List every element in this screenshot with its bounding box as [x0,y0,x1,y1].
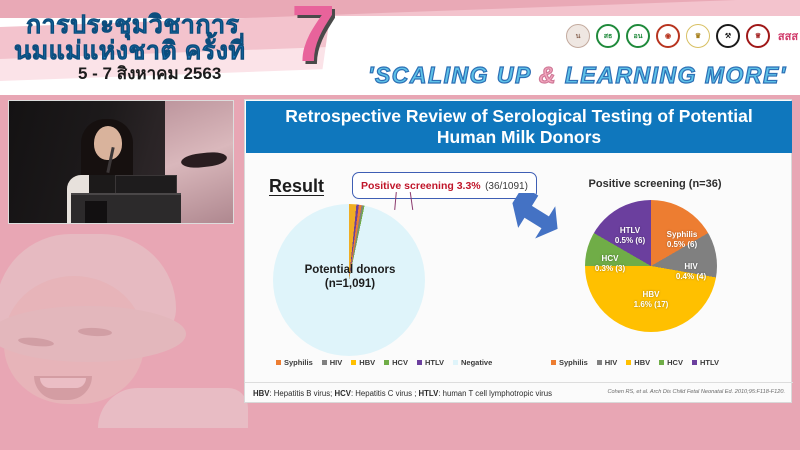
legend-item-hiv-2: HIV [597,358,618,367]
slice-value-htlv: 0.5% (6) [615,236,645,245]
pie-slice-label-hiv: HIV 0.4% (4) [669,262,713,282]
thai-breastfeeding-foundation-logo: น [566,24,590,48]
legend-item-htlv-2: HTLV [692,358,719,367]
footnote-hbv-text: : Hepatitis B virus; [269,389,334,398]
footnote-htlv-key: HTLV [419,389,439,398]
result-heading: Result [269,176,324,197]
legend-item-negative: Negative [453,358,492,367]
slice-value-hbv: 1.6% (17) [634,300,669,309]
legend-label-hiv: HIV [330,358,343,367]
slice-name-htlv: HTLV [620,226,640,235]
ministry-of-public-health-logo: สธ [596,24,620,48]
pie-slice-label-hbv: HBV 1.6% (17) [618,290,684,310]
pie-slice-label-syphilis: Syphilis 0.5% (6) [653,230,711,250]
slice-name-hiv: HIV [684,262,697,271]
slice-value-syphilis: 0.5% (6) [667,240,697,249]
mahidol-university-logo: ⚒ [716,24,740,48]
legend-label-syphilis-2: Syphilis [559,358,588,367]
presenter-face [94,126,122,160]
podium-panel [85,201,107,224]
conference-header-banner: การประชุมวิชาการ นมแม่แห่งชาติ ครั้งที่ … [0,0,800,95]
royal-college-logo: ◉ [656,24,680,48]
baby-body [98,388,248,428]
legend-label-hbv: HBV [359,358,375,367]
slide-footnote: HBV: Hepatitis B virus; HCV: Hepatitis C… [245,382,793,404]
department-of-health-logo: อน [626,24,650,48]
flow-arrow-icon [507,193,563,239]
slice-value-hcv: 0.3% (3) [595,264,625,273]
footnote-hcv-text: : Hepatitis C virus ; [351,389,419,398]
baby-teeth [40,378,86,388]
legend-item-hiv: HIV [322,358,343,367]
slide-title: Retrospective Review of Serological Test… [246,101,792,153]
potential-donors-legend: Syphilis HIV HBV HCV HTLV Negative [276,358,492,367]
legend-item-hcv-2: HCV [659,358,683,367]
legend-item-htlv: HTLV [417,358,444,367]
callout-fraction: (36/1091) [485,181,528,192]
footnote-htlv-text: : human T cell lymphotropic virus [438,389,552,398]
legend-item-hbv: HBV [351,358,375,367]
legend-label-hcv-2: HCV [667,358,683,367]
legend-label-hcv: HCV [392,358,408,367]
royal-thai-emblem-logo: ♛ [686,24,710,48]
sponsor-logo-strip: น สธ อน ◉ ♛ ⚒ ♕ สสส [566,24,800,48]
positive-screening-legend: Syphilis HIV HBV HCV HTLV [551,358,719,367]
tagline-part1: 'SCALING UP [368,62,539,88]
pediatric-society-logo: ♕ [746,24,770,48]
legend-item-syphilis-2: Syphilis [551,358,588,367]
abbreviation-key: HBV: Hepatitis B virus; HCV: Hepatitis C… [253,389,552,398]
legend-item-hbv-2: HBV [626,358,650,367]
conference-tagline: 'SCALING UP & LEARNING MORE' [368,62,787,89]
slice-name-syphilis: Syphilis [667,230,698,239]
footnote-hbv-key: HBV [253,389,269,398]
potential-donors-pie-subtitle: (n=1,091) [300,278,400,290]
footnote-hcv-key: HCV [334,389,350,398]
legend-label-htlv: HTLV [425,358,444,367]
legend-item-hcv: HCV [384,358,408,367]
baby-photo-watermark [0,228,250,428]
pie-slice-label-htlv: HTLV 0.5% (6) [605,226,655,246]
legend-label-negative: Negative [461,358,492,367]
legend-label-hbv-2: HBV [634,358,650,367]
callout-headline: Positive screening 3.3% [361,180,481,192]
presentation-slide: Retrospective Review of Serological Test… [244,99,792,403]
slice-name-hcv: HCV [602,254,619,263]
legend-label-hiv-2: HIV [605,358,618,367]
legend-label-syphilis: Syphilis [284,358,313,367]
tagline-part2: LEARNING MORE' [557,62,787,88]
conference-edition-number: 7 [291,0,336,74]
thaihealth-sss-logo: สสส [776,24,800,48]
positive-screening-pie-chart: Syphilis 0.5% (6) HIV 0.4% (4) HBV 1.6% … [585,200,717,332]
presenter-video-thumbnail[interactable] [8,100,234,224]
slice-name-hbv: HBV [643,290,660,299]
potential-donors-pie-title: Potential donors [300,264,400,276]
source-citation: Cohen RS, et al. Arch Dis Child Fetal Ne… [607,389,785,395]
pie-slice-label-hcv: HCV 0.3% (3) [587,254,633,274]
tagline-ampersand: & [539,62,557,88]
slice-value-hiv: 0.4% (4) [676,272,706,281]
potential-donors-pie-chart: Potential donors (n=1,091) [273,204,425,356]
legend-item-syphilis: Syphilis [276,358,313,367]
legend-label-htlv-2: HTLV [700,358,719,367]
positive-screening-pie-title: Positive screening (n=36) [555,178,755,190]
conference-date-thai: 5 - 7 สิงหาคม 2563 [78,60,221,87]
